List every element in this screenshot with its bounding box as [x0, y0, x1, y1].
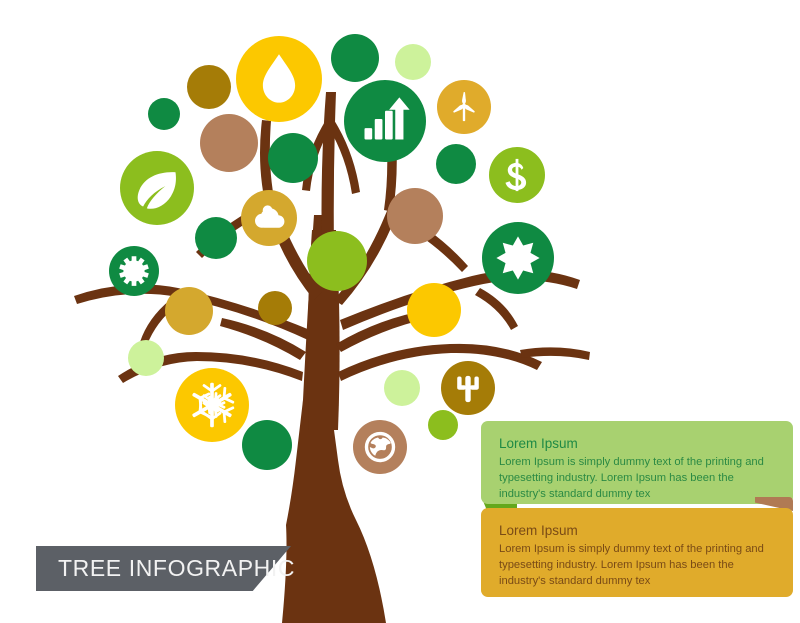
sun-icon-node[interactable] [482, 222, 554, 294]
decorative-circle [387, 188, 443, 244]
decorative-circle [428, 410, 458, 440]
callout-orange-title: Lorem Ipsum [499, 522, 775, 540]
decorative-circle [307, 231, 367, 291]
callout-green-body: Lorem Ipsum is simply dummy text of the … [499, 455, 775, 503]
decorative-circle [165, 287, 213, 335]
callout-green-title: Lorem Ipsum [499, 435, 775, 453]
snowflake-icon-node[interactable] [175, 368, 249, 442]
decorative-circle [187, 65, 231, 109]
sun-icon [496, 236, 539, 279]
decorative-circle [148, 98, 180, 130]
globe-icon-node[interactable] [353, 420, 407, 474]
decorative-circle [331, 34, 379, 82]
infographic-canvas: TREE INFOGRAPHIC Lorem Ipsum Lorem Ipsum… [0, 0, 800, 623]
decorative-circle [384, 370, 420, 406]
water-drop-icon-node[interactable] [236, 36, 322, 122]
decorative-circle [436, 144, 476, 184]
decorative-circle [242, 420, 292, 470]
gear-icon-node[interactable] [109, 246, 159, 296]
decorative-circle [395, 44, 431, 80]
branch-center [322, 92, 337, 252]
callout-green[interactable]: Lorem Ipsum Lorem Ipsum is simply dummy … [481, 421, 793, 504]
branch-right-lateral-2 [338, 344, 542, 381]
title-banner: TREE INFOGRAPHIC [36, 546, 291, 591]
decorative-circle [258, 291, 292, 325]
branch-right-twig [475, 288, 518, 330]
callout-orange-body: Lorem Ipsum is simply dummy text of the … [499, 542, 775, 590]
dollar-sign-icon-node[interactable] [489, 147, 545, 203]
leaf-icon-node[interactable] [120, 151, 194, 225]
gear-icon [119, 256, 149, 286]
decorative-circle [200, 114, 258, 172]
decorative-circle [128, 340, 164, 376]
decorative-circle [407, 283, 461, 337]
callout-orange[interactable]: Lorem Ipsum Lorem Ipsum is simply dummy … [481, 508, 793, 597]
decorative-circle [268, 133, 318, 183]
wind-turbine-icon-node[interactable] [437, 80, 491, 134]
cloud-icon-node[interactable] [241, 190, 297, 246]
growth-bar-chart-icon-node[interactable] [344, 80, 426, 162]
cactus-icon-node[interactable] [441, 361, 495, 415]
decorative-circle [195, 217, 237, 259]
page-title: TREE INFOGRAPHIC [58, 546, 295, 591]
